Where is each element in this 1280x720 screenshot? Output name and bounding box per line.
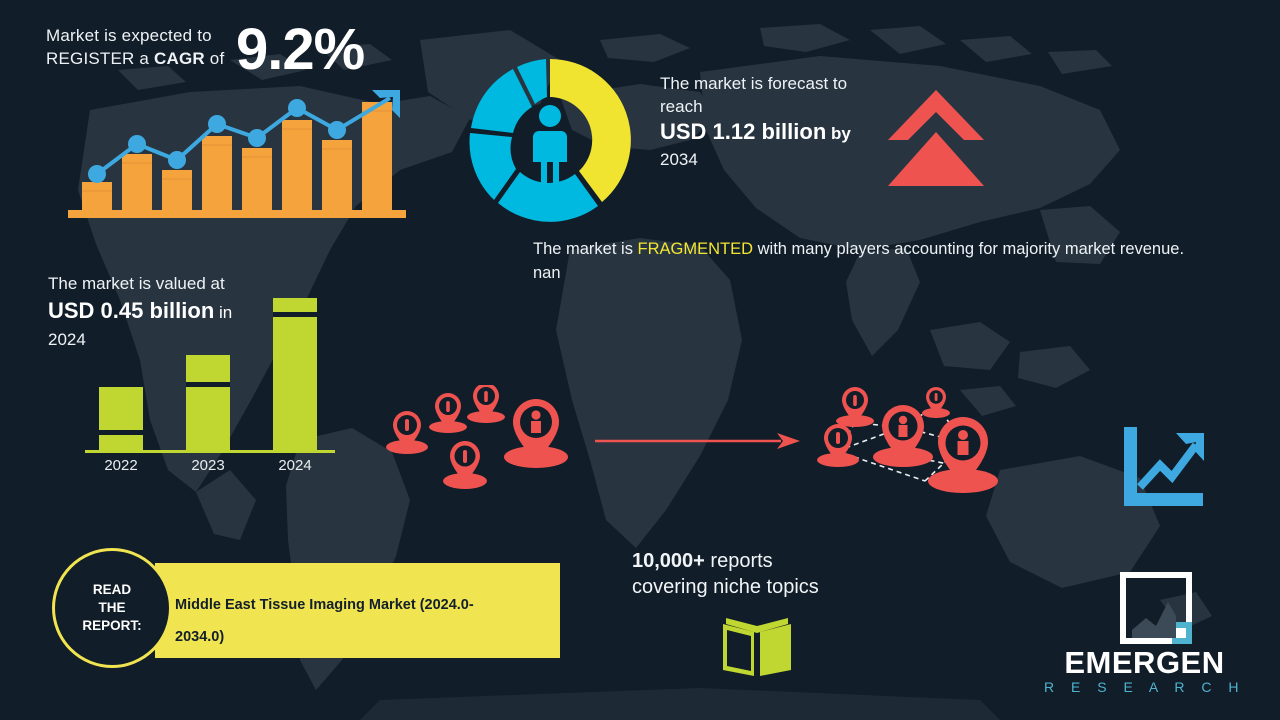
map-pin-person-icon: [443, 441, 487, 489]
forecast-block: The market is forecast to reach USD 1.12…: [660, 72, 910, 171]
growth-bar-chart: [60, 88, 415, 223]
axis-tick-2022: 2022: [104, 457, 137, 474]
map-pin-person-icon: [467, 385, 505, 423]
map-pin-network-right: [805, 385, 1020, 505]
fragmented-pre: The market is: [533, 240, 638, 258]
forecast-by: by: [826, 124, 851, 143]
growth-bars: [82, 102, 392, 210]
market-value-axis-labels: 2022 2023 2024: [104, 457, 311, 474]
report-title: Middle East Tissue Imaging Market (2024.…: [175, 589, 505, 653]
cagr-text: Market is expected to REGISTER a CAGR of: [46, 20, 236, 70]
emergen-research-logo: EMERGEN R E S E A R C H: [1032, 572, 1257, 697]
map-pin-person-icon: [928, 417, 998, 493]
growth-chart-icon: [1118, 425, 1208, 510]
map-pin-cluster-left: [380, 385, 580, 495]
donut-slice-cyan-1: [498, 172, 598, 222]
logo-mark-icon: [1120, 572, 1192, 644]
cagr-line-2: REGISTER a CAGR of: [46, 47, 236, 70]
right-arrow-icon: [595, 430, 800, 452]
map-pin-person-icon: [922, 387, 950, 418]
cagr-line-2-post: of: [205, 49, 225, 68]
market-value-bar-chart: 2022 2023 2024: [75, 290, 345, 475]
cagr-line-2-pre: REGISTER a: [46, 49, 154, 68]
read-line-3: REPORT:: [82, 618, 141, 633]
fragmented-statement: The market is FRAGMENTED with many playe…: [533, 237, 1213, 285]
market-value-bars: [99, 298, 317, 450]
double-chevron-up-icon: [886, 88, 986, 188]
fragmented-highlight: FRAGMENTED: [638, 240, 754, 258]
logo-subtitle: R E S E A R C H: [1032, 679, 1257, 695]
cagr-line-1: Market is expected to: [46, 24, 236, 47]
infographic-canvas: Market is expected to REGISTER a CAGR of…: [0, 0, 1280, 720]
donut-slice-yellow: [550, 59, 631, 202]
forecast-line-1: The market is forecast to: [660, 72, 910, 95]
read-line-1: READ: [93, 582, 131, 597]
report-banner[interactable]: Middle East Tissue Imaging Market (2024.…: [155, 563, 560, 658]
market-share-donut-chart: [465, 55, 635, 225]
forecast-value: USD 1.12 billion: [660, 119, 826, 144]
reports-count-block: 10,000+ reports covering niche topics: [632, 548, 892, 600]
growth-chart-baseline: [68, 210, 406, 218]
map-pin-person-icon: [836, 387, 874, 427]
cagr-keyword: CAGR: [154, 49, 205, 68]
market-value-baseline: [85, 450, 335, 453]
axis-tick-2024: 2024: [278, 457, 311, 474]
map-pin-person-icon: [386, 411, 428, 454]
map-pin-person-icon: [429, 393, 467, 433]
read-the-report-badge[interactable]: READ THE REPORT:: [52, 548, 172, 668]
cagr-block: Market is expected to REGISTER a CAGR of…: [46, 20, 466, 80]
forecast-line-2: reach: [660, 95, 910, 118]
read-line-2: THE: [98, 600, 125, 615]
map-pin-person-icon: [504, 399, 568, 468]
axis-tick-2023: 2023: [191, 457, 224, 474]
cagr-value: 9.2%: [236, 20, 364, 80]
logo-wordmark: EMERGEN: [1032, 646, 1257, 680]
reports-line-1-rest: reports: [705, 550, 773, 572]
read-the-report-label: READ THE REPORT:: [82, 581, 141, 635]
forecast-year: 2034: [660, 148, 910, 171]
map-pin-person-icon: [817, 424, 859, 467]
reports-count: 10,000+: [632, 550, 705, 572]
reports-line-1: 10,000+ reports: [632, 548, 892, 574]
person-icon: [533, 105, 567, 184]
open-book-icon: [718, 612, 796, 677]
forecast-value-row: USD 1.12 billion by: [660, 118, 910, 148]
reports-line-2: covering niche topics: [632, 574, 892, 600]
